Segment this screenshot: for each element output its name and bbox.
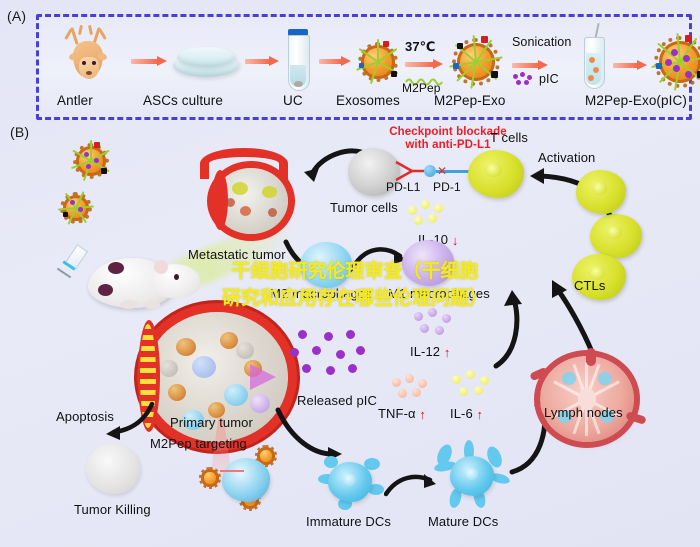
sonicator-vial-icon <box>579 23 607 89</box>
il-12-label: IL-12 ↑ <box>410 344 450 359</box>
deer-icon <box>57 25 127 87</box>
step-label-ascs-culture: ASCs culture <box>143 93 223 108</box>
arrow-uc-to-exosomes <box>319 57 351 66</box>
exosome-particle-icon <box>58 190 94 226</box>
metastatic-tumor-label: Metastatic tumor <box>188 247 286 262</box>
immature-dcs-label: Immature DCs <box>306 514 391 529</box>
step-label-exosomes: Exosomes <box>336 93 400 108</box>
tnf-alpha-label: TNF-α ↑ <box>378 406 426 421</box>
il-12-trend: ↑ <box>444 345 451 360</box>
pic-annotation: pIC <box>539 72 559 86</box>
mature-dc-icon <box>434 440 510 510</box>
arrow-culture-to-uc <box>245 57 279 66</box>
panel-a-tag: (A) <box>7 8 26 24</box>
il-6-name: IL-6 <box>450 406 473 421</box>
pd-l1-label: PD-L1 <box>386 180 421 194</box>
temperature-annotation: 37℃ <box>405 39 436 55</box>
mature-dcs-label: Mature DCs <box>428 514 498 529</box>
metastatic-tumor-icon <box>190 146 310 246</box>
arrow-m2-to-m1 <box>352 244 408 278</box>
pd-1-label: PD-1 <box>433 180 461 194</box>
il-10-trend: ↓ <box>452 233 459 248</box>
scientific-figure: (A) <box>0 0 700 547</box>
il12-cytokine-cluster <box>414 308 458 338</box>
checkpoint-blockade-line2: with anti-PD-L1 <box>405 139 490 151</box>
blockade-x-icon: ✕ <box>437 164 447 178</box>
m1-macrophages-label: M1 macrophages <box>388 286 490 301</box>
tnf-alpha-trend: ↑ <box>419 407 426 422</box>
tumor-killing-icon <box>86 444 140 494</box>
m1-macrophage-icon <box>402 240 454 286</box>
exosome-particle-icon <box>70 140 112 182</box>
m2-macrophage-icon <box>300 242 352 288</box>
petri-dish-icon <box>173 47 239 81</box>
ctl-cell-icon <box>590 214 642 258</box>
tumor-cells-label: Tumor cells <box>330 200 398 215</box>
il-6-label: IL-6 ↑ <box>450 406 483 421</box>
arrow-sonication-to-product <box>613 61 647 70</box>
step-label-m2pep-exo: M2Pep-Exo <box>434 93 505 108</box>
step-label-antler: Antler <box>57 93 93 108</box>
arrow-m2pepexo-to-sonication <box>512 61 548 70</box>
immature-dc-icon <box>316 450 384 512</box>
pic-dots-icon <box>513 72 535 86</box>
step-label-uc: UC <box>283 93 303 108</box>
il10-cytokine-cluster <box>408 200 452 228</box>
arrow-immature-to-mature-dc <box>384 470 440 502</box>
lymph-nodes-label: Lymph nodes <box>544 405 623 420</box>
primary-tumor-label: Primary tumor <box>170 415 253 430</box>
centrifuge-tube-icon <box>285 29 311 91</box>
released-pic-cluster <box>290 330 366 386</box>
t-cells-label: T cells <box>490 130 528 145</box>
lymph-node-icon <box>530 348 650 456</box>
exosome-peptide-icon <box>449 35 503 89</box>
exosome-pic-icon <box>651 33 700 91</box>
sonication-annotation: Sonication <box>512 35 571 49</box>
tnf-alpha-name: TNF-α <box>378 406 416 421</box>
ctl-cell-icon <box>576 170 626 214</box>
pd-1-ligand-icon <box>424 165 436 177</box>
arrow-to-ctls-right <box>540 276 598 358</box>
tumor-killing-label: Tumor Killing <box>74 502 151 517</box>
il-6-trend: ↑ <box>477 407 484 422</box>
exosome-icon <box>355 39 401 85</box>
il6-cytokine-cluster <box>452 370 496 400</box>
panel-a: 37℃ M2Pep Sonication <box>36 14 692 120</box>
il-12-name: IL-12 <box>410 344 440 359</box>
tnfa-cytokine-cluster <box>392 374 434 402</box>
arrow-exosomes-to-m2pepexo <box>405 60 443 69</box>
arrow-apoptosis <box>104 400 156 444</box>
arrow-antler-to-culture <box>131 57 167 66</box>
step-label-m2pep-exo-pic: M2Pep-Exo(pIC) <box>585 93 687 108</box>
panel-b: Metastatic tumor Tumor cells Checkpoint … <box>0 118 700 547</box>
